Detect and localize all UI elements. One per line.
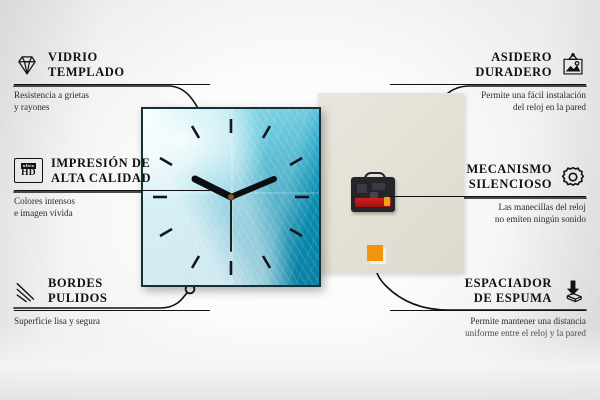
feature-title-line2: DURADERO — [475, 65, 552, 80]
diamond-icon — [14, 52, 40, 78]
feature-title: BORDES PULIDOS — [48, 276, 107, 306]
feature-divider — [14, 190, 210, 192]
clock-mechanism-image — [351, 172, 395, 212]
feature-asidero-duradero: ASIDERO DURADERO Permite una fácil insta… — [390, 50, 586, 113]
framed-picture-icon — [560, 52, 586, 78]
feature-espaciador-de-espuma: ESPACIADOR DE ESPUMA Permite mantener un… — [390, 276, 586, 339]
feature-desc-line2: del reloj en la pared — [390, 101, 586, 113]
ultra-hd-icon-badge-large: HD — [21, 169, 36, 179]
feature-divider — [14, 84, 210, 86]
feature-title: ASIDERO DURADERO — [475, 50, 552, 80]
feature-description: Permite mantener una distancia uniforme … — [390, 315, 586, 339]
feature-title-line2: SILENCIOSO — [466, 177, 552, 192]
ultra-hd-icon: ultra HD — [14, 158, 43, 183]
feature-desc-line1: Resistencia a grietas — [14, 89, 210, 101]
mechanism-detail-2 — [372, 183, 385, 190]
feature-divider — [14, 310, 210, 312]
feature-divider — [390, 310, 586, 312]
feature-vidrio-templado: VIDRIO TEMPLADO Resistencia a grietas y … — [14, 50, 210, 113]
feature-desc-line2: e imagen vívida — [14, 207, 210, 219]
feature-desc-line1: Colores intensos — [14, 195, 210, 207]
foam-spacer-image — [367, 245, 383, 261]
feature-title: IMPRESIÓN DE ALTA CALIDAD — [51, 156, 151, 186]
feature-desc-line1: Permite mantener una distancia — [390, 315, 586, 327]
feature-title-line2: ALTA CALIDAD — [51, 171, 151, 186]
feature-mecanismo-silencioso: MECANISMO SILENCIOSO Las manecillas del … — [390, 162, 586, 225]
arrow-down-pad-icon — [560, 278, 586, 304]
feature-divider — [390, 84, 586, 86]
feature-title-line1: ASIDERO — [475, 50, 552, 65]
feature-description: Resistencia a grietas y rayones — [14, 89, 210, 113]
feature-divider — [390, 196, 586, 198]
feature-description: Las manecillas del reloj no emiten ningú… — [390, 201, 586, 225]
feature-title-line1: MECANISMO — [466, 162, 552, 177]
feature-bordes-pulidos: BORDES PULIDOS Superficie lisa y segura — [14, 276, 210, 327]
feature-title-line2: PULIDOS — [48, 291, 107, 306]
feature-title: MECANISMO SILENCIOSO — [466, 162, 552, 192]
gear-icon — [560, 164, 586, 190]
feature-description: Superficie lisa y segura — [14, 315, 210, 327]
feature-desc-line1: Permite una fácil instalación — [390, 89, 586, 101]
feature-impresion-alta-calidad: ultra HD IMPRESIÓN DE ALTA CALIDAD Color… — [14, 156, 210, 219]
infographic-canvas: VIDRIO TEMPLADO Resistencia a grietas y … — [0, 0, 600, 400]
feature-desc-line1: Las manecillas del reloj — [390, 201, 586, 213]
feature-desc-line1: Superficie lisa y segura — [14, 315, 210, 327]
feature-desc-line2: y rayones — [14, 101, 210, 113]
feature-title-line1: IMPRESIÓN DE — [51, 156, 151, 171]
feature-description: Permite una fácil instalación del reloj … — [390, 89, 586, 113]
feature-description: Colores intensos e imagen vívida — [14, 195, 210, 219]
feature-title-line1: ESPACIADOR — [465, 276, 552, 291]
feature-title-line2: DE ESPUMA — [465, 291, 552, 306]
feature-title-line1: BORDES — [48, 276, 107, 291]
feature-title: VIDRIO TEMPLADO — [48, 50, 125, 80]
diagonal-lines-icon — [14, 278, 40, 304]
feature-desc-line2: uniforme entre el reloj y la pared — [390, 327, 586, 339]
feature-desc-line2: no emiten ningún sonido — [390, 213, 586, 225]
feature-title: ESPACIADOR DE ESPUMA — [465, 276, 552, 306]
mechanism-detail-1 — [357, 184, 367, 193]
feature-title-line1: VIDRIO — [48, 50, 125, 65]
feature-title-line2: TEMPLADO — [48, 65, 125, 80]
